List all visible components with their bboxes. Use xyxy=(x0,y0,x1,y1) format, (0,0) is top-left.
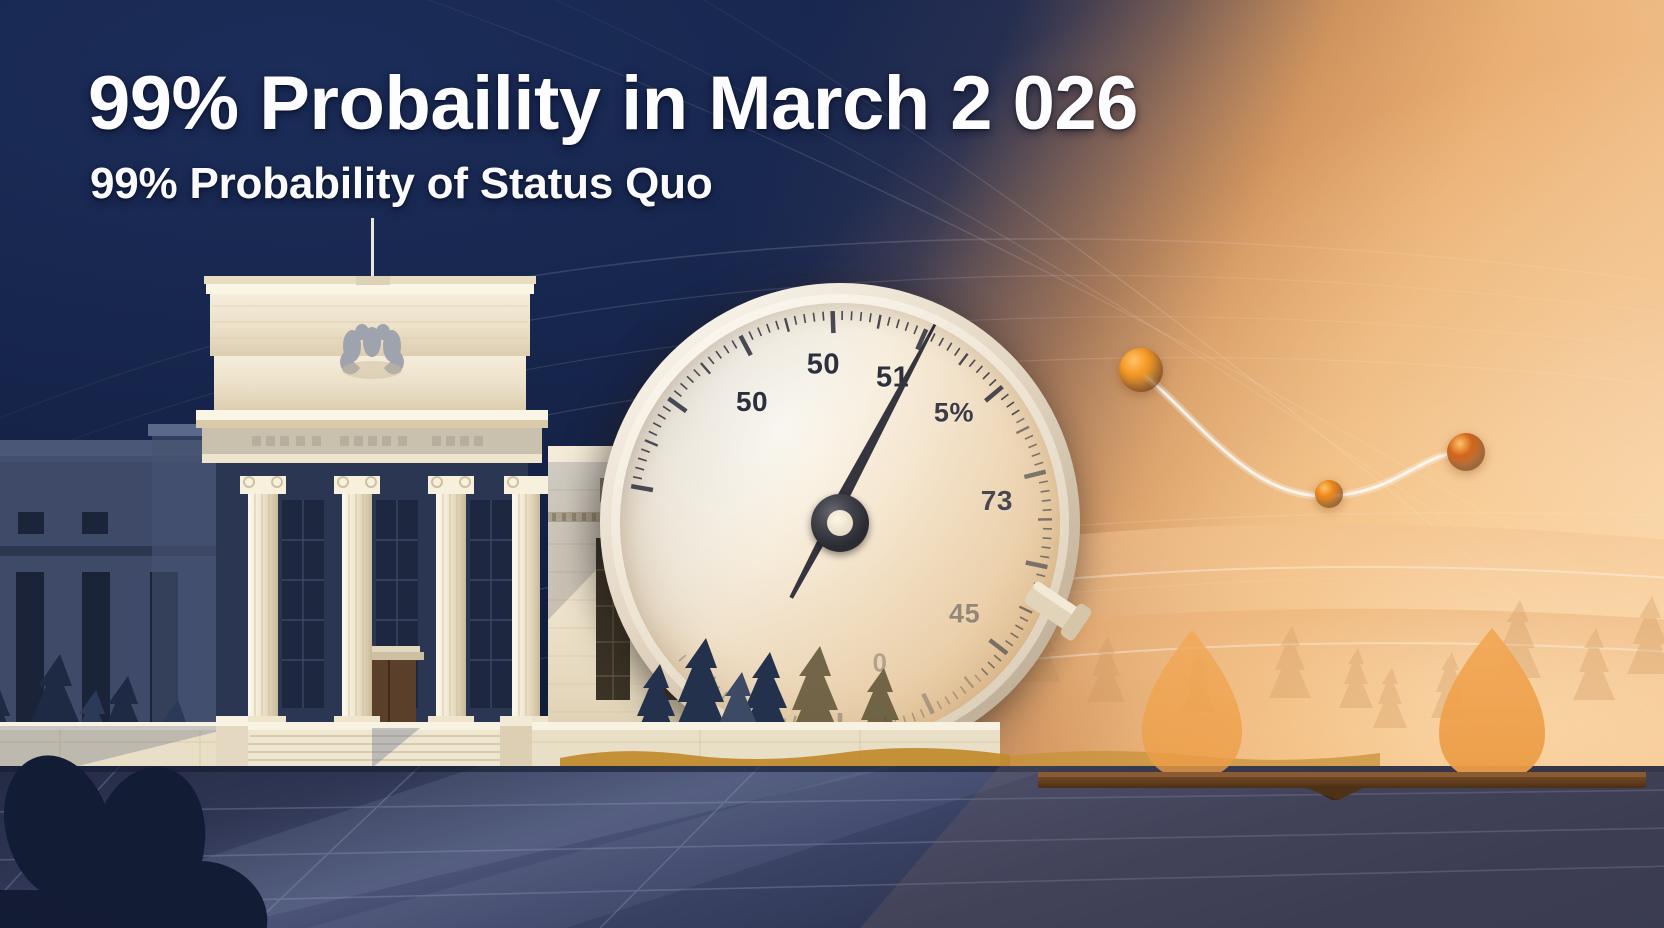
hero-banner: 5050515%73450 xyxy=(0,0,1664,928)
data-dot-2 xyxy=(1315,480,1343,508)
data-dot-1 xyxy=(1119,348,1163,392)
data-dot-3 xyxy=(1447,433,1485,471)
page-title: 99% Probaility in March 2 026 xyxy=(88,66,1388,142)
page-subtitle: 99% Probability of Status Quo xyxy=(90,162,1290,206)
